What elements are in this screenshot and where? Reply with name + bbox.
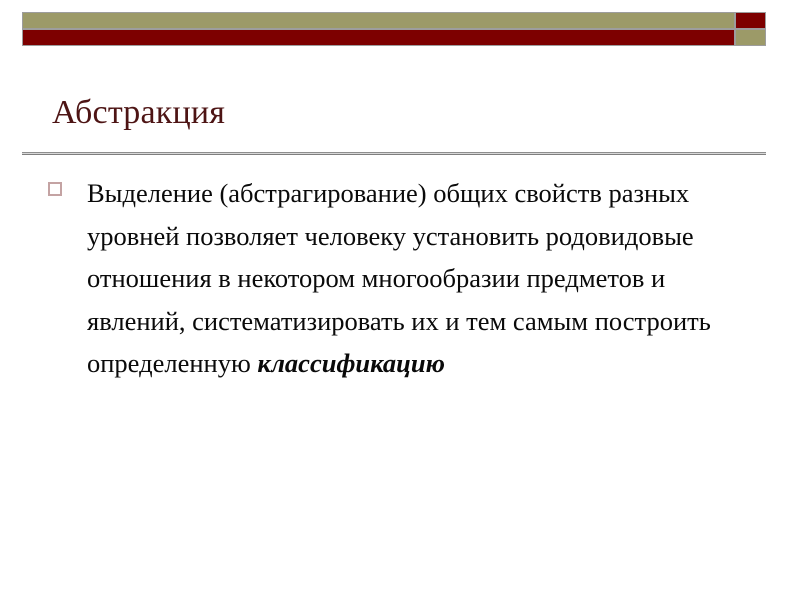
header-decoration — [22, 12, 766, 46]
header-deco-bottom-long-maroon — [22, 29, 735, 46]
header-deco-top-long-olive — [22, 12, 735, 29]
bullet-text-emphasis: классификацию — [257, 348, 445, 378]
list-item: Выделение (абстрагирование) общих свойст… — [87, 172, 727, 385]
bullet-list: Выделение (абстрагирование) общих свойст… — [48, 172, 760, 385]
header-decoration-row-bottom — [22, 29, 766, 46]
header-decoration-row-top — [22, 12, 766, 29]
header-deco-top-short-maroon — [735, 12, 766, 29]
header-deco-bottom-short-olive — [735, 29, 766, 46]
title-separator-rule — [22, 152, 766, 155]
slide-canvas: Абстракция Выделение (абстрагирование) о… — [0, 0, 800, 600]
page-title: Абстракция — [52, 92, 225, 134]
bullet-square-icon — [48, 182, 62, 196]
